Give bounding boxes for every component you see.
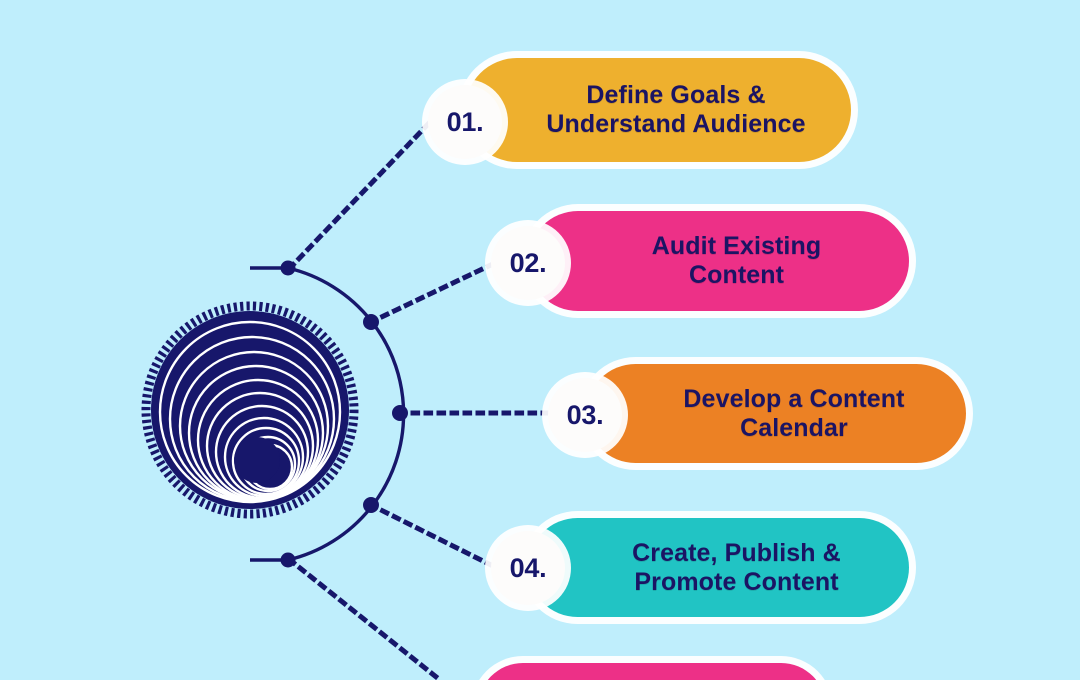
step-label-4: Create, Publish & Promote Content <box>580 539 857 597</box>
step-pill-3[interactable]: Develop a Content Calendar <box>586 364 966 463</box>
step-pill-4[interactable]: Create, Publish & Promote Content <box>528 518 909 617</box>
step-pill-5[interactable] <box>478 663 826 680</box>
junction-dot-4 <box>363 497 379 513</box>
step-label-4-line1: Create, Publish & <box>632 539 841 567</box>
junction-dot-1 <box>281 261 296 276</box>
step-label-3-line2: Calendar <box>740 414 848 442</box>
spiral-tunnel-emblem <box>140 300 360 520</box>
step-pill-2[interactable]: Audit Existing Content <box>528 211 909 311</box>
step-label-2-line1: Audit Existing <box>652 232 821 260</box>
step-number-badge-1[interactable]: 01. <box>428 85 502 159</box>
junction-dot-3 <box>392 405 408 421</box>
emblem-core <box>234 437 280 483</box>
step-label-2: Audit Existing Content <box>600 232 837 290</box>
step-number-badge-2[interactable]: 02. <box>491 226 565 300</box>
step-label-1-line1: Define Goals & <box>586 81 765 109</box>
branch-line-5 <box>290 560 440 680</box>
branch-line-1 <box>290 120 432 268</box>
step-number-badge-4[interactable]: 04. <box>491 531 565 605</box>
infographic-canvas: Define Goals & Understand Audience 01. A… <box>0 0 1080 680</box>
step-label-1: Define Goals & Understand Audience <box>494 81 821 139</box>
junction-dot-5 <box>281 553 296 568</box>
step-number-badge-3[interactable]: 03. <box>548 378 622 452</box>
junction-dot-2 <box>363 314 379 330</box>
step-label-3: Develop a Content Calendar <box>631 385 920 443</box>
step-pill-1[interactable]: Define Goals & Understand Audience <box>465 58 851 162</box>
step-label-2-line2: Content <box>689 261 784 289</box>
branch-line-2 <box>371 263 495 322</box>
step-label-4-line2: Promote Content <box>634 568 838 596</box>
step-label-1-line2: Understand Audience <box>546 110 805 138</box>
step-label-3-line1: Develop a Content <box>683 385 904 413</box>
branch-line-4 <box>371 505 495 567</box>
